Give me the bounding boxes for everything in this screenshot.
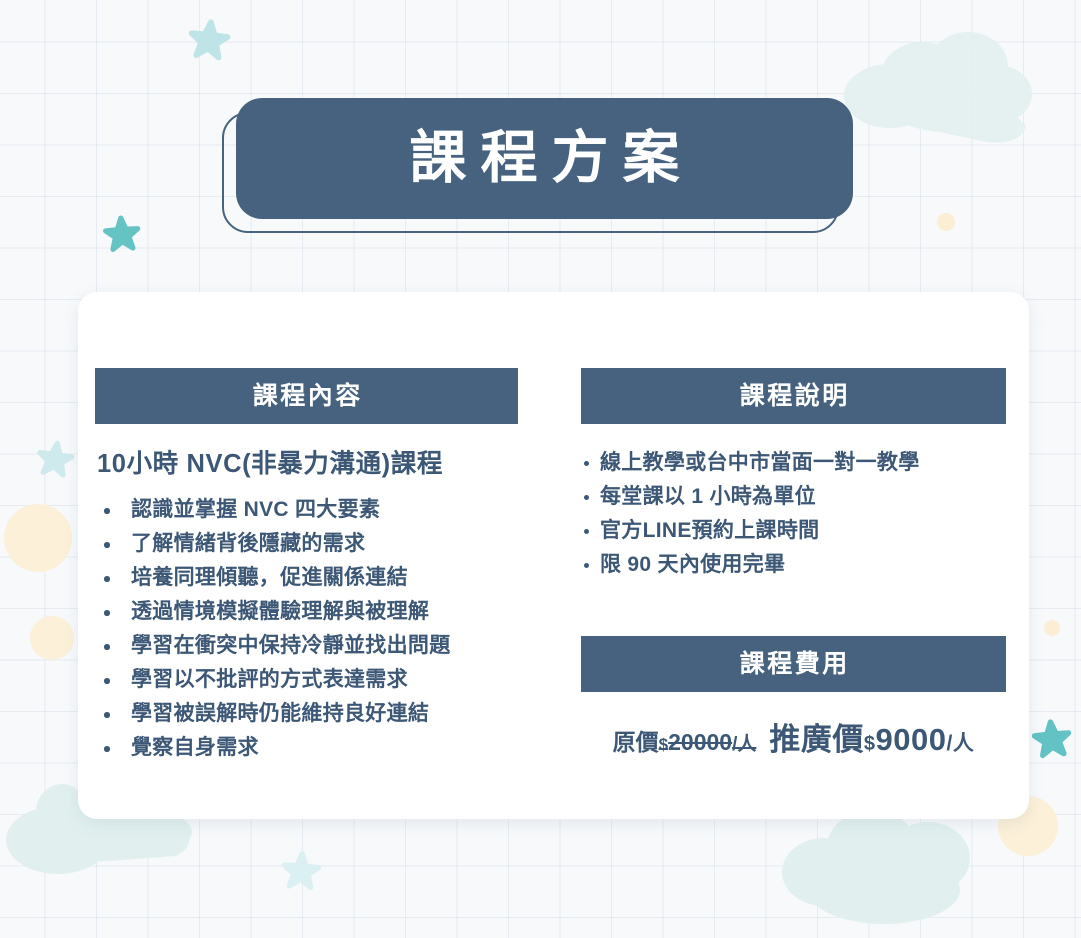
list-item: 透過情境模擬體驗理解與被理解 — [95, 595, 518, 629]
page-title-banner: 課程方案 — [236, 98, 853, 219]
title-banner-plate: 課程方案 — [236, 98, 853, 219]
list-item: 學習以不批評的方式表達需求 — [95, 663, 518, 697]
list-item: 線上教學或台中市當面一對一教學 — [581, 446, 1006, 480]
course-description-list: 線上教學或台中市當面一對一教學 每堂課以 1 小時為單位 官方LINE預約上課時… — [581, 446, 1006, 582]
section-header-course-content: 課程內容 — [95, 368, 518, 424]
promo-price-amount: 9000 — [876, 722, 947, 757]
list-item: 每堂課以 1 小時為單位 — [581, 480, 1006, 514]
promo-price: 推廣價$9000/人 — [769, 714, 974, 759]
price-row: 原價$20000/人 推廣價$9000/人 — [581, 714, 1006, 759]
list-item: 學習在衝突中保持冷靜並找出問題 — [95, 629, 518, 663]
course-plan-card: 課程內容 10小時 NVC(非暴力溝通)課程 認識並掌握 NVC 四大要素 了解… — [78, 292, 1029, 819]
course-description-column: 課程說明 線上教學或台中市當面一對一教學 每堂課以 1 小時為單位 官方LINE… — [581, 368, 1006, 759]
list-item: 培養同理傾聽，促進關係連結 — [95, 561, 518, 595]
list-item: 官方LINE預約上課時間 — [581, 514, 1006, 548]
list-item: 限 90 天內使用完畢 — [581, 548, 1006, 582]
list-item: 認識並掌握 NVC 四大要素 — [95, 493, 518, 527]
original-price-unit: /人 — [732, 734, 756, 755]
course-content-list: 認識並掌握 NVC 四大要素 了解情緒背後隱藏的需求 培養同理傾聽，促進關係連結… — [95, 493, 518, 765]
original-price: 原價$20000/人 — [613, 723, 757, 757]
promo-price-unit: /人 — [946, 732, 974, 755]
list-item: 學習被誤解時仍能維持良好連結 — [95, 697, 518, 731]
promo-price-currency: $ — [864, 733, 876, 755]
list-item: 覺察自身需求 — [95, 731, 518, 765]
page-title: 課程方案 — [396, 130, 694, 187]
original-price-currency: $ — [659, 735, 668, 754]
course-fee-block: 課程費用 原價$20000/人 推廣價$9000/人 — [581, 636, 1006, 759]
course-lead-title: 10小時 NVC(非暴力溝通)課程 — [95, 450, 518, 479]
list-item: 了解情緒背後隱藏的需求 — [95, 527, 518, 561]
section-header-course-fee: 課程費用 — [581, 636, 1006, 692]
original-price-label: 原價 — [613, 729, 659, 755]
course-content-column: 課程內容 10小時 NVC(非暴力溝通)課程 認識並掌握 NVC 四大要素 了解… — [95, 368, 518, 765]
section-header-course-description: 課程說明 — [581, 368, 1006, 424]
original-price-amount: 20000 — [668, 729, 732, 755]
promo-price-label: 推廣價 — [769, 722, 864, 757]
